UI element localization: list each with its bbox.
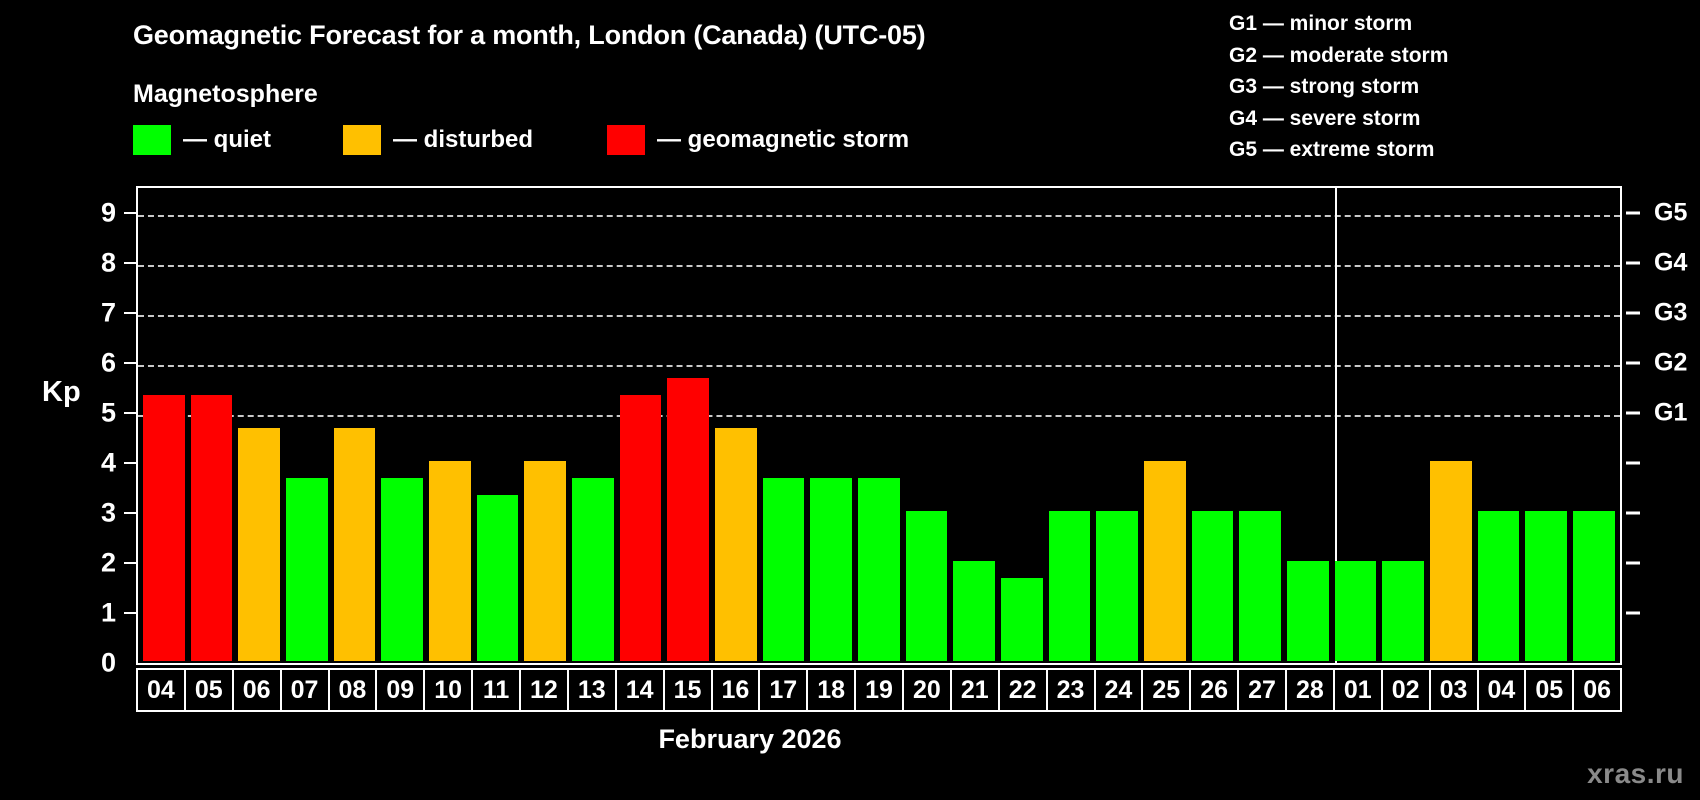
x-axis-date-cell[interactable]: 13: [569, 670, 617, 710]
legend-swatch-disturbed: [343, 125, 381, 155]
bar-06-quiet[interactable]: [1573, 511, 1615, 661]
bar-slot[interactable]: [950, 190, 998, 661]
bar-slot[interactable]: [331, 190, 379, 661]
g-tick-label-g4: G4: [1654, 249, 1687, 278]
y-tick-label-0: 0: [101, 648, 116, 679]
y-tick-label-7: 7: [101, 298, 116, 329]
x-axis-date-cell[interactable]: 02: [1383, 670, 1431, 710]
x-axis-date-cell[interactable]: 19: [856, 670, 904, 710]
g-tick-mark-kp-1: [1626, 612, 1640, 615]
g-tick-mark-kp-8: [1626, 262, 1640, 265]
plot-wrapper: [136, 186, 1622, 665]
x-axis-date-cell[interactable]: 28: [1287, 670, 1335, 710]
bar-13-quiet[interactable]: [572, 478, 614, 662]
bar-16-disturbed[interactable]: [715, 428, 757, 662]
g-tick-label-g1: G1: [1654, 399, 1687, 428]
bar-slot[interactable]: [855, 190, 903, 661]
x-axis-date-cell[interactable]: 21: [952, 670, 1000, 710]
bar-slot[interactable]: [903, 190, 951, 661]
y-axis-kp: 0123456789: [72, 186, 116, 665]
bar-slot[interactable]: [1427, 190, 1475, 661]
legend-label-disturbed: — disturbed: [393, 126, 533, 154]
y-tick-label-6: 6: [101, 348, 116, 379]
bar-05-quiet[interactable]: [1525, 511, 1567, 661]
bar-10-disturbed[interactable]: [429, 461, 471, 661]
y-tick-label-5: 5: [101, 398, 116, 429]
g-tick-label-g2: G2: [1654, 349, 1687, 378]
bar-07-quiet[interactable]: [286, 478, 328, 662]
x-axis-date-cell[interactable]: 04: [138, 670, 186, 710]
x-axis-date-row: 0405060708091011121314151617181920212223…: [136, 668, 1622, 712]
bar-slot[interactable]: [1332, 190, 1380, 661]
x-axis-date-cell[interactable]: 24: [1096, 670, 1144, 710]
x-axis-date-cell[interactable]: 20: [904, 670, 952, 710]
x-axis-date-cell[interactable]: 08: [330, 670, 378, 710]
legend-label-quiet: — quiet: [183, 126, 271, 154]
bar-22-quiet[interactable]: [1001, 578, 1043, 662]
x-axis-date-cell[interactable]: 05: [186, 670, 234, 710]
g-tick-mark-kp-3: [1626, 512, 1640, 515]
bar-slot[interactable]: [283, 190, 331, 661]
bar-slot[interactable]: [235, 190, 283, 661]
legend-swatch-quiet: [133, 125, 171, 155]
g-tick-mark-kp-5: [1626, 412, 1640, 415]
g-key-line-g2: G2 — moderate storm: [1229, 40, 1448, 72]
g-tick-mark-kp-7: [1626, 312, 1640, 315]
bar-06-disturbed[interactable]: [238, 428, 280, 662]
x-axis-date-cell[interactable]: 15: [665, 670, 713, 710]
bar-slot[interactable]: [474, 190, 522, 661]
bar-20-quiet[interactable]: [906, 511, 948, 661]
x-axis-date-cell[interactable]: 01: [1335, 670, 1383, 710]
bar-slot[interactable]: [378, 190, 426, 661]
g-key-line-g3: G3 — strong storm: [1229, 71, 1448, 103]
bar-slot[interactable]: [1141, 190, 1189, 661]
bar-04-quiet[interactable]: [1478, 511, 1520, 661]
bar-14-storm[interactable]: [620, 395, 662, 662]
page-title: Geomagnetic Forecast for a month, London…: [133, 20, 925, 51]
x-axis-date-cell[interactable]: 06: [234, 670, 282, 710]
bar-slot[interactable]: [521, 190, 569, 661]
bar-12-disturbed[interactable]: [524, 461, 566, 661]
bar-18-quiet[interactable]: [810, 478, 852, 662]
bar-slot[interactable]: [1189, 190, 1237, 661]
g-key-line-g4: G4 — severe storm: [1229, 103, 1448, 135]
bar-slot[interactable]: [664, 190, 712, 661]
bar-slot[interactable]: [426, 190, 474, 661]
g-tick-mark-kp-9: [1626, 212, 1640, 215]
bar-28-quiet[interactable]: [1287, 561, 1329, 661]
bar-23-quiet[interactable]: [1049, 511, 1091, 661]
bar-slot[interactable]: [760, 190, 808, 661]
g-tick-mark-kp-4: [1626, 462, 1640, 465]
bar-21-quiet[interactable]: [953, 561, 995, 661]
y-tick-label-9: 9: [101, 198, 116, 229]
x-axis-date-cell[interactable]: 10: [425, 670, 473, 710]
bar-15-storm[interactable]: [667, 378, 709, 662]
g-tick-label-g5: G5: [1654, 199, 1687, 228]
legend-swatch-storm: [607, 125, 645, 155]
bar-02-quiet[interactable]: [1382, 561, 1424, 661]
bar-slot[interactable]: [1236, 190, 1284, 661]
bar-series: [140, 190, 1618, 661]
g-tick-mark-kp-2: [1626, 562, 1640, 565]
bar-05-storm[interactable]: [191, 395, 233, 662]
x-axis-date-cell[interactable]: 14: [617, 670, 665, 710]
bar-01-quiet[interactable]: [1335, 561, 1377, 661]
bar-slot[interactable]: [712, 190, 760, 661]
legend-item-disturbed: — disturbed: [343, 124, 533, 156]
bar-27-quiet[interactable]: [1239, 511, 1281, 661]
x-axis-date-cell[interactable]: 26: [1191, 670, 1239, 710]
bar-17-quiet[interactable]: [763, 478, 805, 662]
x-axis-title: February 2026: [0, 724, 1500, 755]
bar-09-quiet[interactable]: [381, 478, 423, 662]
bar-slot[interactable]: [1522, 190, 1570, 661]
watermark: xras.ru: [1587, 758, 1684, 790]
y-tick-label-3: 3: [101, 498, 116, 529]
plot-area: [136, 186, 1622, 665]
g-key-line-g5: G5 — extreme storm: [1229, 134, 1448, 166]
legend-item-quiet: — quiet: [133, 124, 271, 156]
x-axis-date-cell[interactable]: 27: [1239, 670, 1287, 710]
bar-24-quiet[interactable]: [1096, 511, 1138, 661]
g-tick-mark-kp-6: [1626, 362, 1640, 365]
x-axis-date-cell[interactable]: 25: [1143, 670, 1191, 710]
legend-label-storm: — geomagnetic storm: [657, 126, 909, 154]
bar-slot[interactable]: [140, 190, 188, 661]
bar-slot[interactable]: [569, 190, 617, 661]
x-axis-date-cell[interactable]: 12: [521, 670, 569, 710]
bar-slot[interactable]: [188, 190, 236, 661]
x-axis-date-cell[interactable]: 16: [713, 670, 761, 710]
bar-slot[interactable]: [807, 190, 855, 661]
x-axis-date-cell[interactable]: 23: [1048, 670, 1096, 710]
bar-08-disturbed[interactable]: [334, 428, 376, 662]
bar-03-disturbed[interactable]: [1430, 461, 1472, 661]
bar-11-quiet[interactable]: [477, 495, 519, 662]
g-key-line-g1: G1 — minor storm: [1229, 8, 1448, 40]
y-tick-label-2: 2: [101, 548, 116, 579]
x-axis-date-cell[interactable]: 18: [808, 670, 856, 710]
y-axis-g-scale: G1G2G3G4G5: [1622, 186, 1700, 665]
y-tick-label-8: 8: [101, 248, 116, 279]
legend-heading: Magnetosphere: [133, 80, 318, 109]
bar-25-disturbed[interactable]: [1144, 461, 1186, 661]
bar-slot[interactable]: [617, 190, 665, 661]
legend: — quiet — disturbed — geomagnetic storm: [133, 124, 909, 156]
x-axis-date-cell[interactable]: 17: [760, 670, 808, 710]
legend-item-storm: — geomagnetic storm: [607, 124, 909, 156]
bar-19-quiet[interactable]: [858, 478, 900, 662]
x-axis-date-cell[interactable]: 09: [377, 670, 425, 710]
x-axis-date-cell[interactable]: 11: [473, 670, 521, 710]
bar-26-quiet[interactable]: [1192, 511, 1234, 661]
x-axis-date-cell[interactable]: 07: [282, 670, 330, 710]
g-tick-label-g3: G3: [1654, 299, 1687, 328]
g-scale-key: G1 — minor storm G2 — moderate storm G3 …: [1229, 8, 1448, 166]
bar-slot[interactable]: [1284, 190, 1332, 661]
bar-slot[interactable]: [1570, 190, 1618, 661]
y-tick-label-4: 4: [101, 448, 116, 479]
bar-slot[interactable]: [998, 190, 1046, 661]
bar-slot[interactable]: [1379, 190, 1427, 661]
bar-slot[interactable]: [1475, 190, 1523, 661]
bar-slot[interactable]: [1046, 190, 1094, 661]
y-tick-label-1: 1: [101, 598, 116, 629]
x-axis-date-cell[interactable]: 22: [1000, 670, 1048, 710]
x-axis-date-cell[interactable]: 03: [1431, 670, 1479, 710]
bar-04-storm[interactable]: [143, 395, 185, 662]
bar-slot[interactable]: [1093, 190, 1141, 661]
x-axis-date-cell[interactable]: 05: [1526, 670, 1574, 710]
x-axis-date-cell[interactable]: 06: [1574, 670, 1620, 710]
x-axis-date-cell[interactable]: 04: [1479, 670, 1527, 710]
